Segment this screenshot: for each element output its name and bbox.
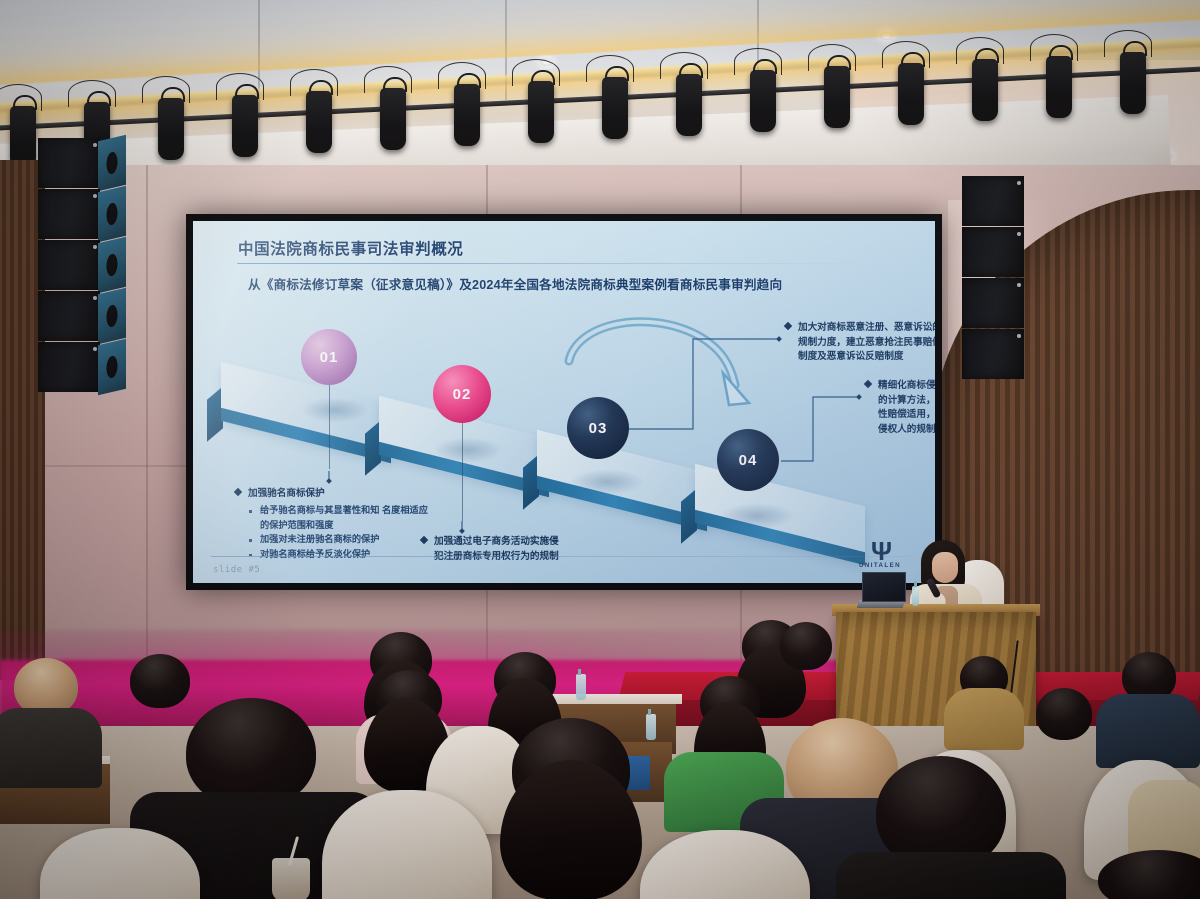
speaker-cabinet (38, 342, 100, 392)
light-cable (364, 66, 412, 93)
speaker-cabinet (38, 138, 100, 188)
light-cable (0, 84, 42, 111)
stage-par-light (1120, 52, 1146, 114)
speaker-array-right (962, 176, 1024, 380)
unitalen-wordmark: UNITALEN (859, 562, 901, 569)
laptop-screen (862, 572, 906, 602)
speaker-driver (107, 253, 118, 278)
speaker-cabinet (38, 291, 100, 341)
unitalen-logo: Ψ UNITALEN (859, 540, 901, 569)
speaker-face (98, 135, 126, 191)
speaker-face (98, 339, 126, 395)
unitalen-mark-icon: Ψ (859, 540, 901, 562)
speaker-driver (107, 151, 118, 176)
light-cable (660, 52, 708, 79)
light-cable (1030, 34, 1078, 61)
light-cable (142, 76, 190, 103)
footer-divider (211, 556, 911, 557)
callout-02-heading: 加强通过电子商务活动实施侵 犯注册商标专用权行为的规制 (434, 535, 601, 564)
light-cable (956, 37, 1004, 64)
water-bottle (576, 674, 586, 700)
callout-01-item: 给予驰名商标与其显著性和知 名度相适应的保护范围和强度 (249, 503, 435, 532)
audience-torso-front (836, 852, 1066, 899)
callout-02: 加强通过电子商务活动实施侵 犯注册商标专用权行为的规制 (421, 535, 601, 564)
diamond-bullet-icon (420, 536, 428, 544)
audience-head (130, 654, 190, 708)
light-cable (734, 48, 782, 75)
projection-screen: 中国法院商标民事司法审判概况 从《商标法修订草案（征求意见稿）》及2024年全国… (186, 214, 942, 590)
speaker-driver (107, 202, 118, 227)
diamond-bullet-icon (784, 322, 792, 330)
speaker-face (98, 288, 126, 344)
speaker-cabinet (962, 278, 1024, 328)
light-cable (290, 69, 338, 96)
speaker-face (98, 186, 126, 242)
audience-head (1036, 688, 1092, 740)
speaker-driver (107, 355, 118, 380)
speaker-cabinet (38, 189, 100, 239)
stage-par-light (898, 63, 924, 125)
light-cable (438, 62, 486, 89)
presentation-slide: 中国法院商标民事司法审判概况 从《商标法修订草案（征求意见稿）》及2024年全国… (193, 221, 935, 583)
stage-par-light (306, 91, 332, 153)
stage-par-light (528, 81, 554, 143)
stage-par-light (602, 77, 628, 139)
presenter-face (932, 552, 958, 583)
stage-par-light (1046, 56, 1072, 118)
audience-head (780, 622, 832, 670)
callout-01-sublist: 给予驰名商标与其显著性和知 名度相适应的保护范围和强度 加强对未注册驰名商标的保… (235, 503, 435, 561)
stage-par-light (10, 106, 36, 168)
diamond-bullet-icon (234, 488, 242, 496)
callout-03-heading: 加大对商标恶意注册、恶意诉讼的 规制力度，建立恶意抢注民事赔偿 制度及恶意诉讼反… (798, 321, 935, 365)
speaker-cabinet (38, 240, 100, 290)
speaker-array-left (38, 138, 100, 393)
light-cable (882, 41, 930, 68)
water-bottle (646, 714, 656, 740)
stage-par-light (750, 70, 776, 132)
callout-01-item: 对驰名商标给予反淡化保护 (249, 547, 435, 562)
light-cable (216, 73, 264, 100)
stage-par-light (824, 66, 850, 128)
callout-01: 加强驰名商标保护 (235, 487, 425, 502)
light-cable (586, 55, 634, 82)
audience-torso (0, 708, 102, 788)
light-cable (1104, 30, 1152, 57)
ceiling-seam (505, 0, 507, 100)
audience-torso (1096, 694, 1200, 768)
callout-04: 精细化商标侵权赔偿数额 的计算方法，及通过惩罚 性赔偿适用，加大对恶意 侵权人的… (865, 379, 935, 437)
stage-par-light (232, 95, 258, 157)
callout-04-heading: 精细化商标侵权赔偿数额 的计算方法，及通过惩罚 性赔偿适用，加大对恶意 侵权人的… (878, 379, 935, 437)
speaker-cabinet (962, 176, 1024, 226)
speaker-face (98, 237, 126, 293)
light-cable (512, 59, 560, 86)
stage-par-light (380, 88, 406, 150)
speaker-cabinet (962, 329, 1024, 379)
callout-01-item: 加强对未注册驰名商标的保护 (249, 532, 435, 547)
callout-01-heading: 加强驰名商标保护 (248, 487, 425, 502)
stage-par-light (454, 84, 480, 146)
stage-par-light (158, 98, 184, 160)
light-cable (808, 44, 856, 71)
callout-03: 加大对商标恶意注册、恶意诉讼的 规制力度，建立恶意抢注民事赔偿 制度及恶意诉讼反… (785, 321, 935, 365)
conference-hall-photo: 中国法院商标民事司法审判概况 从《商标法修订草案（征求意见稿）》及2024年全国… (0, 0, 1200, 899)
stage-par-light (676, 74, 702, 136)
light-cable (68, 80, 116, 107)
audience-torso (944, 688, 1024, 750)
slide-number: slide #5 (213, 565, 260, 575)
stage-par-light (972, 59, 998, 121)
water-bottle (912, 586, 919, 606)
speaker-driver (107, 304, 118, 329)
front-table-top (550, 694, 682, 704)
speaker-cabinet (962, 227, 1024, 277)
ceiling-seam (258, 0, 260, 120)
diamond-bullet-icon (864, 380, 872, 388)
